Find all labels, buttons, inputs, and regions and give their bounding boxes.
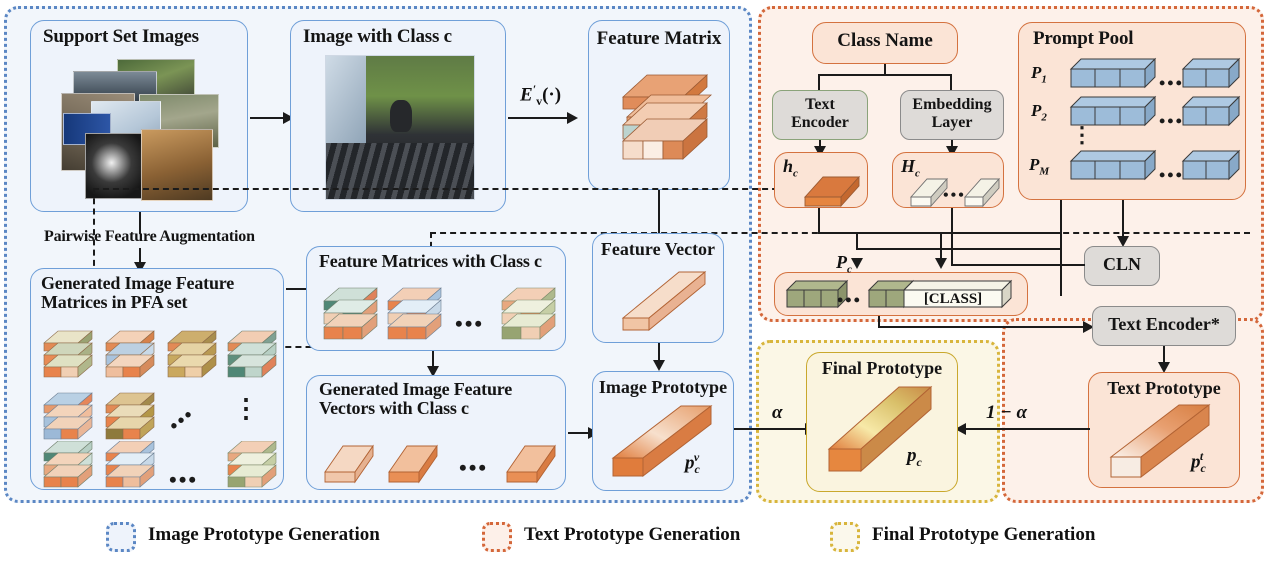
- feature-matrix-title: Feature Matrix: [589, 29, 729, 50]
- gifm-title-line1: Generated Image Feature: [41, 273, 234, 293]
- gifv-title-line1: Generated Image Feature: [319, 379, 512, 399]
- prompt-pool-row-label-1: P1: [1031, 63, 1047, 85]
- gifm-horizontal-dots: •••: [169, 467, 198, 493]
- fmc-dots: •••: [455, 311, 484, 337]
- cln-label: CLN: [1085, 255, 1159, 275]
- fmc-title: Feature Matrices with Class c: [319, 252, 542, 271]
- p-c-symbol: Pc: [836, 252, 852, 276]
- card-image-with-class: Image with Class c: [290, 20, 506, 212]
- feature-vector-title: Feature Vector: [593, 240, 723, 260]
- card-text-prototype: Text Prototype pct: [1088, 372, 1240, 488]
- class-image-photo: [325, 55, 475, 200]
- card-generated-image-feature-matrices: Generated Image Feature Matrices in PFA …: [30, 268, 284, 490]
- p-c-blocks: [CLASS]: [783, 278, 1023, 312]
- arrow-support-to-image-line: [250, 117, 286, 119]
- encoder-function-label: E′v(·): [520, 82, 561, 109]
- line-one-minus-alpha: [962, 428, 1090, 430]
- card-H-c: Hc •••: [892, 152, 1004, 208]
- prompt-pool-vertical-dots: ⋮: [1071, 128, 1093, 142]
- prompt-pool-row-label-3: PM: [1029, 155, 1049, 177]
- arrow-pc-left-head: [851, 258, 863, 269]
- feature-matrix-cube: [613, 63, 713, 167]
- line-classname-right: [950, 74, 952, 90]
- card-embedding-layer: Embedding Layer: [900, 90, 1004, 140]
- legend-label-text: Text Prototype Generation: [524, 524, 740, 546]
- prompt-row-3-blocks: [1067, 149, 1243, 183]
- arrow-encoder-line: [508, 117, 570, 119]
- card-generated-image-feature-vectors: Generated Image Feature Vectors with Cla…: [306, 375, 566, 490]
- prompt-row-2-dots: •••: [1159, 111, 1184, 132]
- line-pc-second: [856, 248, 1062, 250]
- class-token-text: [CLASS]: [924, 291, 982, 307]
- line-hc-down: [818, 208, 820, 234]
- line-classname-fork: [818, 74, 952, 76]
- p-c-dots: •••: [837, 290, 862, 311]
- final-prototype-title: Final Prototype: [807, 359, 957, 379]
- image-with-class-title: Image with Class c: [303, 27, 452, 48]
- embedding-layer-line1: Embedding: [912, 96, 991, 113]
- card-feature-matrices-with-class: Feature Matrices with Class c •••: [306, 246, 566, 351]
- support-set-title: Support Set Images: [43, 27, 199, 48]
- legend-label-image: Image Prototype Generation: [148, 524, 380, 546]
- text-prototype-symbol: pct: [1191, 449, 1203, 476]
- diagram-canvas: Support Set Images Image with Class c E′…: [0, 0, 1268, 565]
- line-pc-drop2: [940, 232, 942, 260]
- one-minus-alpha-label: 1 − α: [986, 402, 1027, 424]
- gifm-vertical-dots: ⋮: [233, 401, 259, 417]
- prompt-pool-row-label-2: P2: [1031, 101, 1047, 123]
- h-c-bar: [801, 173, 865, 209]
- gifv-bars: [317, 428, 561, 486]
- gifm-diagonal-dots-1: •••: [165, 403, 200, 438]
- class-name-title: Class Name: [813, 31, 957, 52]
- legend-swatch-text: [482, 522, 512, 552]
- card-text-encoder-star: Text Encoder*: [1092, 306, 1236, 346]
- prompt-row-1-dots: •••: [1159, 73, 1184, 94]
- text-encoder-line1: Text: [805, 96, 835, 113]
- alpha-label: α: [772, 402, 783, 424]
- text-encoder-line2: Encoder: [791, 114, 849, 131]
- gifv-title-line2: Vectors with Class c: [319, 398, 469, 418]
- prompt-row-1-blocks: [1067, 57, 1243, 91]
- card-text-encoder: Text Encoder: [772, 90, 868, 140]
- feature-vector-bar: [615, 266, 711, 336]
- card-support-set-images: Support Set Images: [30, 20, 248, 212]
- line-classname-left: [818, 74, 820, 90]
- card-p-c: [CLASS] •••: [774, 272, 1028, 316]
- line-Hc-down: [951, 208, 953, 266]
- image-prototype-bar: [603, 400, 723, 484]
- card-class-name: Class Name: [812, 22, 958, 64]
- prompt-row-2-blocks: [1067, 95, 1243, 129]
- image-prototype-symbol: pcv: [685, 450, 699, 477]
- arrow-encoder-head: [567, 112, 578, 124]
- embedding-layer-line2: Layer: [932, 114, 973, 131]
- pairwise-feature-augmentation-label: Pairwise Feature Augmentation: [44, 228, 255, 245]
- image-prototype-title: Image Prototype: [593, 378, 733, 398]
- text-prototype-bar: [1103, 399, 1227, 485]
- gifv-dots: •••: [459, 455, 488, 481]
- line-cln-out: [1060, 286, 1062, 296]
- feature-matrix-svg: [613, 63, 713, 167]
- arrow-pc-mid-head: [935, 258, 947, 269]
- line-Hc-to-cln: [951, 264, 1085, 266]
- line-alpha: [734, 428, 808, 430]
- dashed-line-top: [93, 188, 838, 190]
- card-feature-matrix: Feature Matrix: [588, 20, 730, 190]
- text-prototype-title: Text Prototype: [1089, 379, 1239, 399]
- final-prototype-bar: [819, 379, 949, 483]
- text-encoder-star-label: Text Encoder*: [1093, 315, 1235, 335]
- line-pc-drop1: [856, 232, 858, 250]
- h-c-symbol: hc: [783, 156, 798, 180]
- legend-swatch-image: [106, 522, 136, 552]
- H-c-dots: •••: [943, 187, 966, 205]
- final-prototype-symbol: pc: [907, 445, 922, 470]
- collage-photo-8: [141, 129, 213, 201]
- prompt-row-3-dots: •••: [1159, 165, 1184, 186]
- legend-swatch-final: [830, 522, 860, 552]
- line-pc-to-te-star: [878, 326, 1086, 328]
- gifm-title-line2: Matrices in PFA set: [41, 292, 187, 312]
- card-prompt-pool: Prompt Pool P1 ••• P2: [1018, 22, 1246, 200]
- card-h-c: hc: [774, 152, 868, 208]
- prompt-pool-title: Prompt Pool: [1033, 29, 1133, 50]
- card-image-prototype: Image Prototype pcv: [592, 371, 734, 491]
- card-cln: CLN: [1084, 246, 1160, 286]
- card-feature-vector: Feature Vector: [592, 233, 724, 343]
- arrow-fv-to-proto-head: [653, 360, 665, 371]
- legend-label-final: Final Prototype Generation: [872, 524, 1095, 546]
- card-final-prototype: Final Prototype pc: [806, 352, 958, 492]
